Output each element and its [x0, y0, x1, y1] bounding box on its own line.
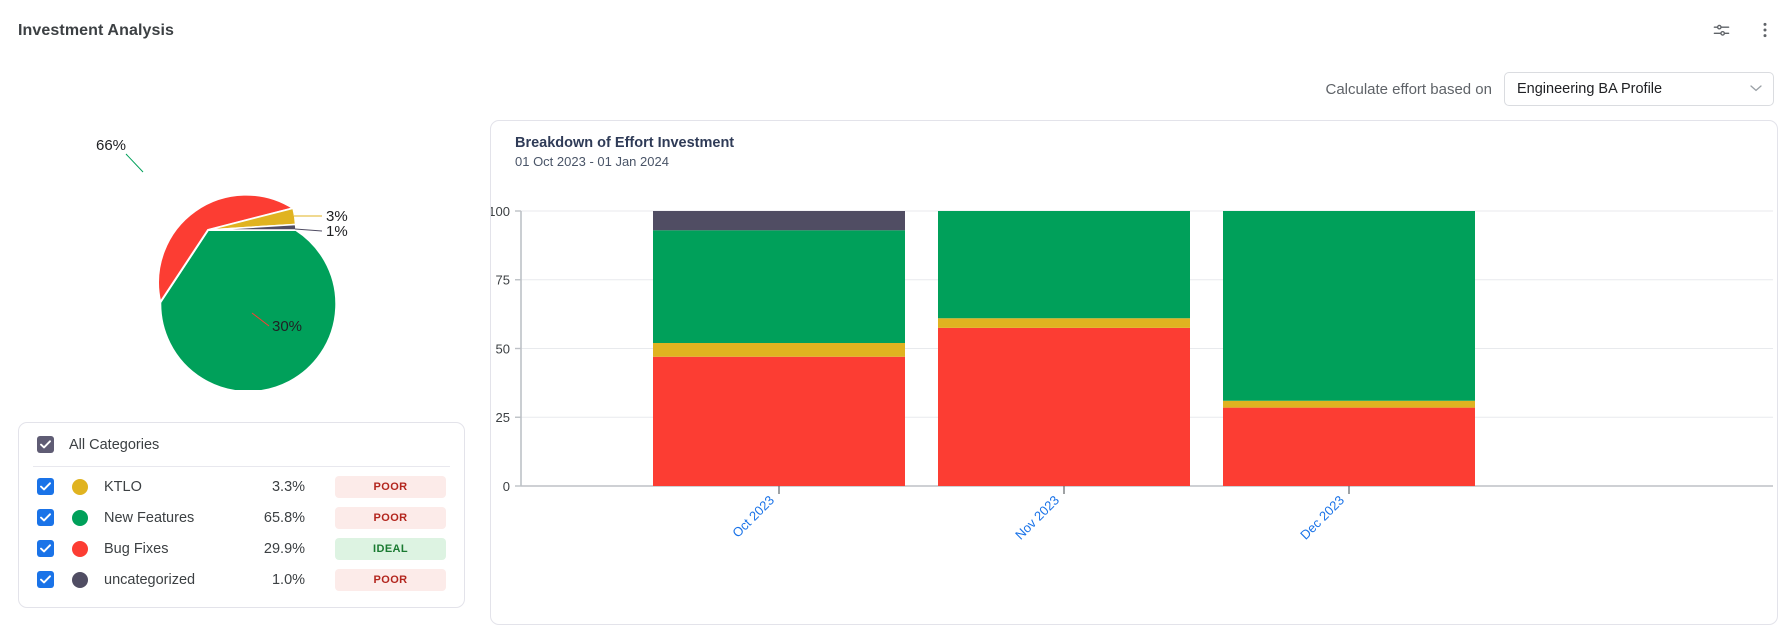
list-item[interactable]: Bug Fixes 29.9% IDEAL	[19, 533, 464, 564]
pie-label-uncategorized: 1%	[326, 223, 348, 240]
sliders-icon[interactable]	[1708, 17, 1734, 43]
chevron-down-icon	[1750, 84, 1762, 95]
bar-segment-bug-fixes[interactable]	[1223, 408, 1475, 486]
y-tick-label: 25	[496, 410, 510, 425]
bar-segment-ktlo[interactable]	[1223, 401, 1475, 408]
page-title: Investment Analysis	[18, 22, 174, 40]
color-swatch-ktlo	[72, 479, 88, 495]
investment-analysis-page: Investment Analysis Calculate effort bas…	[0, 0, 1792, 642]
stacked-bar-chart: 100 75 50 25 0 Percentage (Ticket count)…	[491, 121, 1779, 626]
color-swatch-bug-fixes	[72, 541, 88, 557]
y-tick-label: 50	[496, 342, 510, 357]
x-axis-label-nov-2023[interactable]: Nov 2023	[1012, 493, 1062, 543]
list-item[interactable]: New Features 65.8% POOR	[19, 502, 464, 533]
legend-all-categories-label: All Categories	[69, 437, 159, 453]
effort-breakdown-card: Breakdown of Effort Investment 01 Oct 20…	[490, 120, 1778, 625]
bar-segment-ktlo[interactable]	[938, 318, 1190, 328]
status-badge: IDEAL	[335, 538, 446, 560]
bar-group-dec-2023	[1223, 211, 1475, 486]
color-swatch-uncategorized	[72, 572, 88, 588]
bar-segment-new-features[interactable]	[1223, 211, 1475, 401]
category-name: New Features	[104, 510, 246, 526]
status-badge: POOR	[335, 476, 446, 498]
checkbox-category-ktlo[interactable]	[37, 478, 54, 495]
effort-distribution-pie-chart: 66% 3% 1% 30%	[30, 130, 470, 390]
y-tick-label: 0	[503, 479, 510, 494]
bar-group-oct-2023	[653, 211, 905, 486]
bar-segment-bug-fixes[interactable]	[938, 328, 1190, 486]
pie-label-new-features: 66%	[96, 137, 126, 154]
checkbox-category-new-features[interactable]	[37, 509, 54, 526]
category-name: KTLO	[104, 479, 246, 495]
effort-profile-control: Calculate effort based on Engineering BA…	[1325, 72, 1774, 106]
checkbox-category-uncategorized[interactable]	[37, 571, 54, 588]
effort-profile-select[interactable]: Engineering BA Profile	[1504, 72, 1774, 106]
category-percentage: 1.0%	[246, 572, 305, 588]
y-tick-label: 75	[496, 273, 510, 288]
y-tick-label: 100	[491, 204, 510, 219]
header-actions	[1708, 17, 1778, 43]
list-item[interactable]: KTLO 3.3% POOR	[19, 471, 464, 502]
effort-profile-label: Calculate effort based on	[1325, 81, 1492, 98]
checkbox-category-bug-fixes[interactable]	[37, 540, 54, 557]
x-axis-label-dec-2023[interactable]: Dec 2023	[1297, 493, 1347, 543]
bar-segment-new-features[interactable]	[938, 211, 1190, 318]
category-name: Bug Fixes	[104, 541, 246, 557]
status-badge: POOR	[335, 507, 446, 529]
status-badge: POOR	[335, 569, 446, 591]
list-item[interactable]: uncategorized 1.0% POOR	[19, 564, 464, 595]
pie-leader-uncategorized	[295, 229, 322, 231]
bar-segment-uncategorized[interactable]	[653, 211, 905, 230]
bar-segment-bug-fixes[interactable]	[653, 357, 905, 486]
legend-all-categories-row[interactable]: All Categories	[19, 423, 464, 466]
legend-rows: KTLO 3.3% POOR New Features 65.8% POOR B…	[19, 467, 464, 595]
bar-segment-new-features[interactable]	[653, 230, 905, 343]
category-percentage: 65.8%	[246, 510, 305, 526]
y-axis-ticks	[515, 211, 521, 486]
category-percentage: 29.9%	[246, 541, 305, 557]
category-percentage: 3.3%	[246, 479, 305, 495]
x-axis-label-oct-2023[interactable]: Oct 2023	[729, 493, 777, 541]
bar-group-nov-2023	[938, 211, 1190, 486]
categories-legend-card: All Categories KTLO 3.3% POOR New Featur…	[18, 422, 465, 608]
color-swatch-new-features	[72, 510, 88, 526]
bar-segment-ktlo[interactable]	[653, 343, 905, 357]
pie-leader-new-features	[126, 154, 143, 172]
more-vertical-icon[interactable]	[1752, 17, 1778, 43]
checkbox-all-categories[interactable]	[37, 436, 54, 453]
category-name: uncategorized	[104, 572, 246, 588]
pie-label-bug-fixes: 30%	[272, 318, 302, 335]
effort-profile-value: Engineering BA Profile	[1517, 81, 1662, 97]
